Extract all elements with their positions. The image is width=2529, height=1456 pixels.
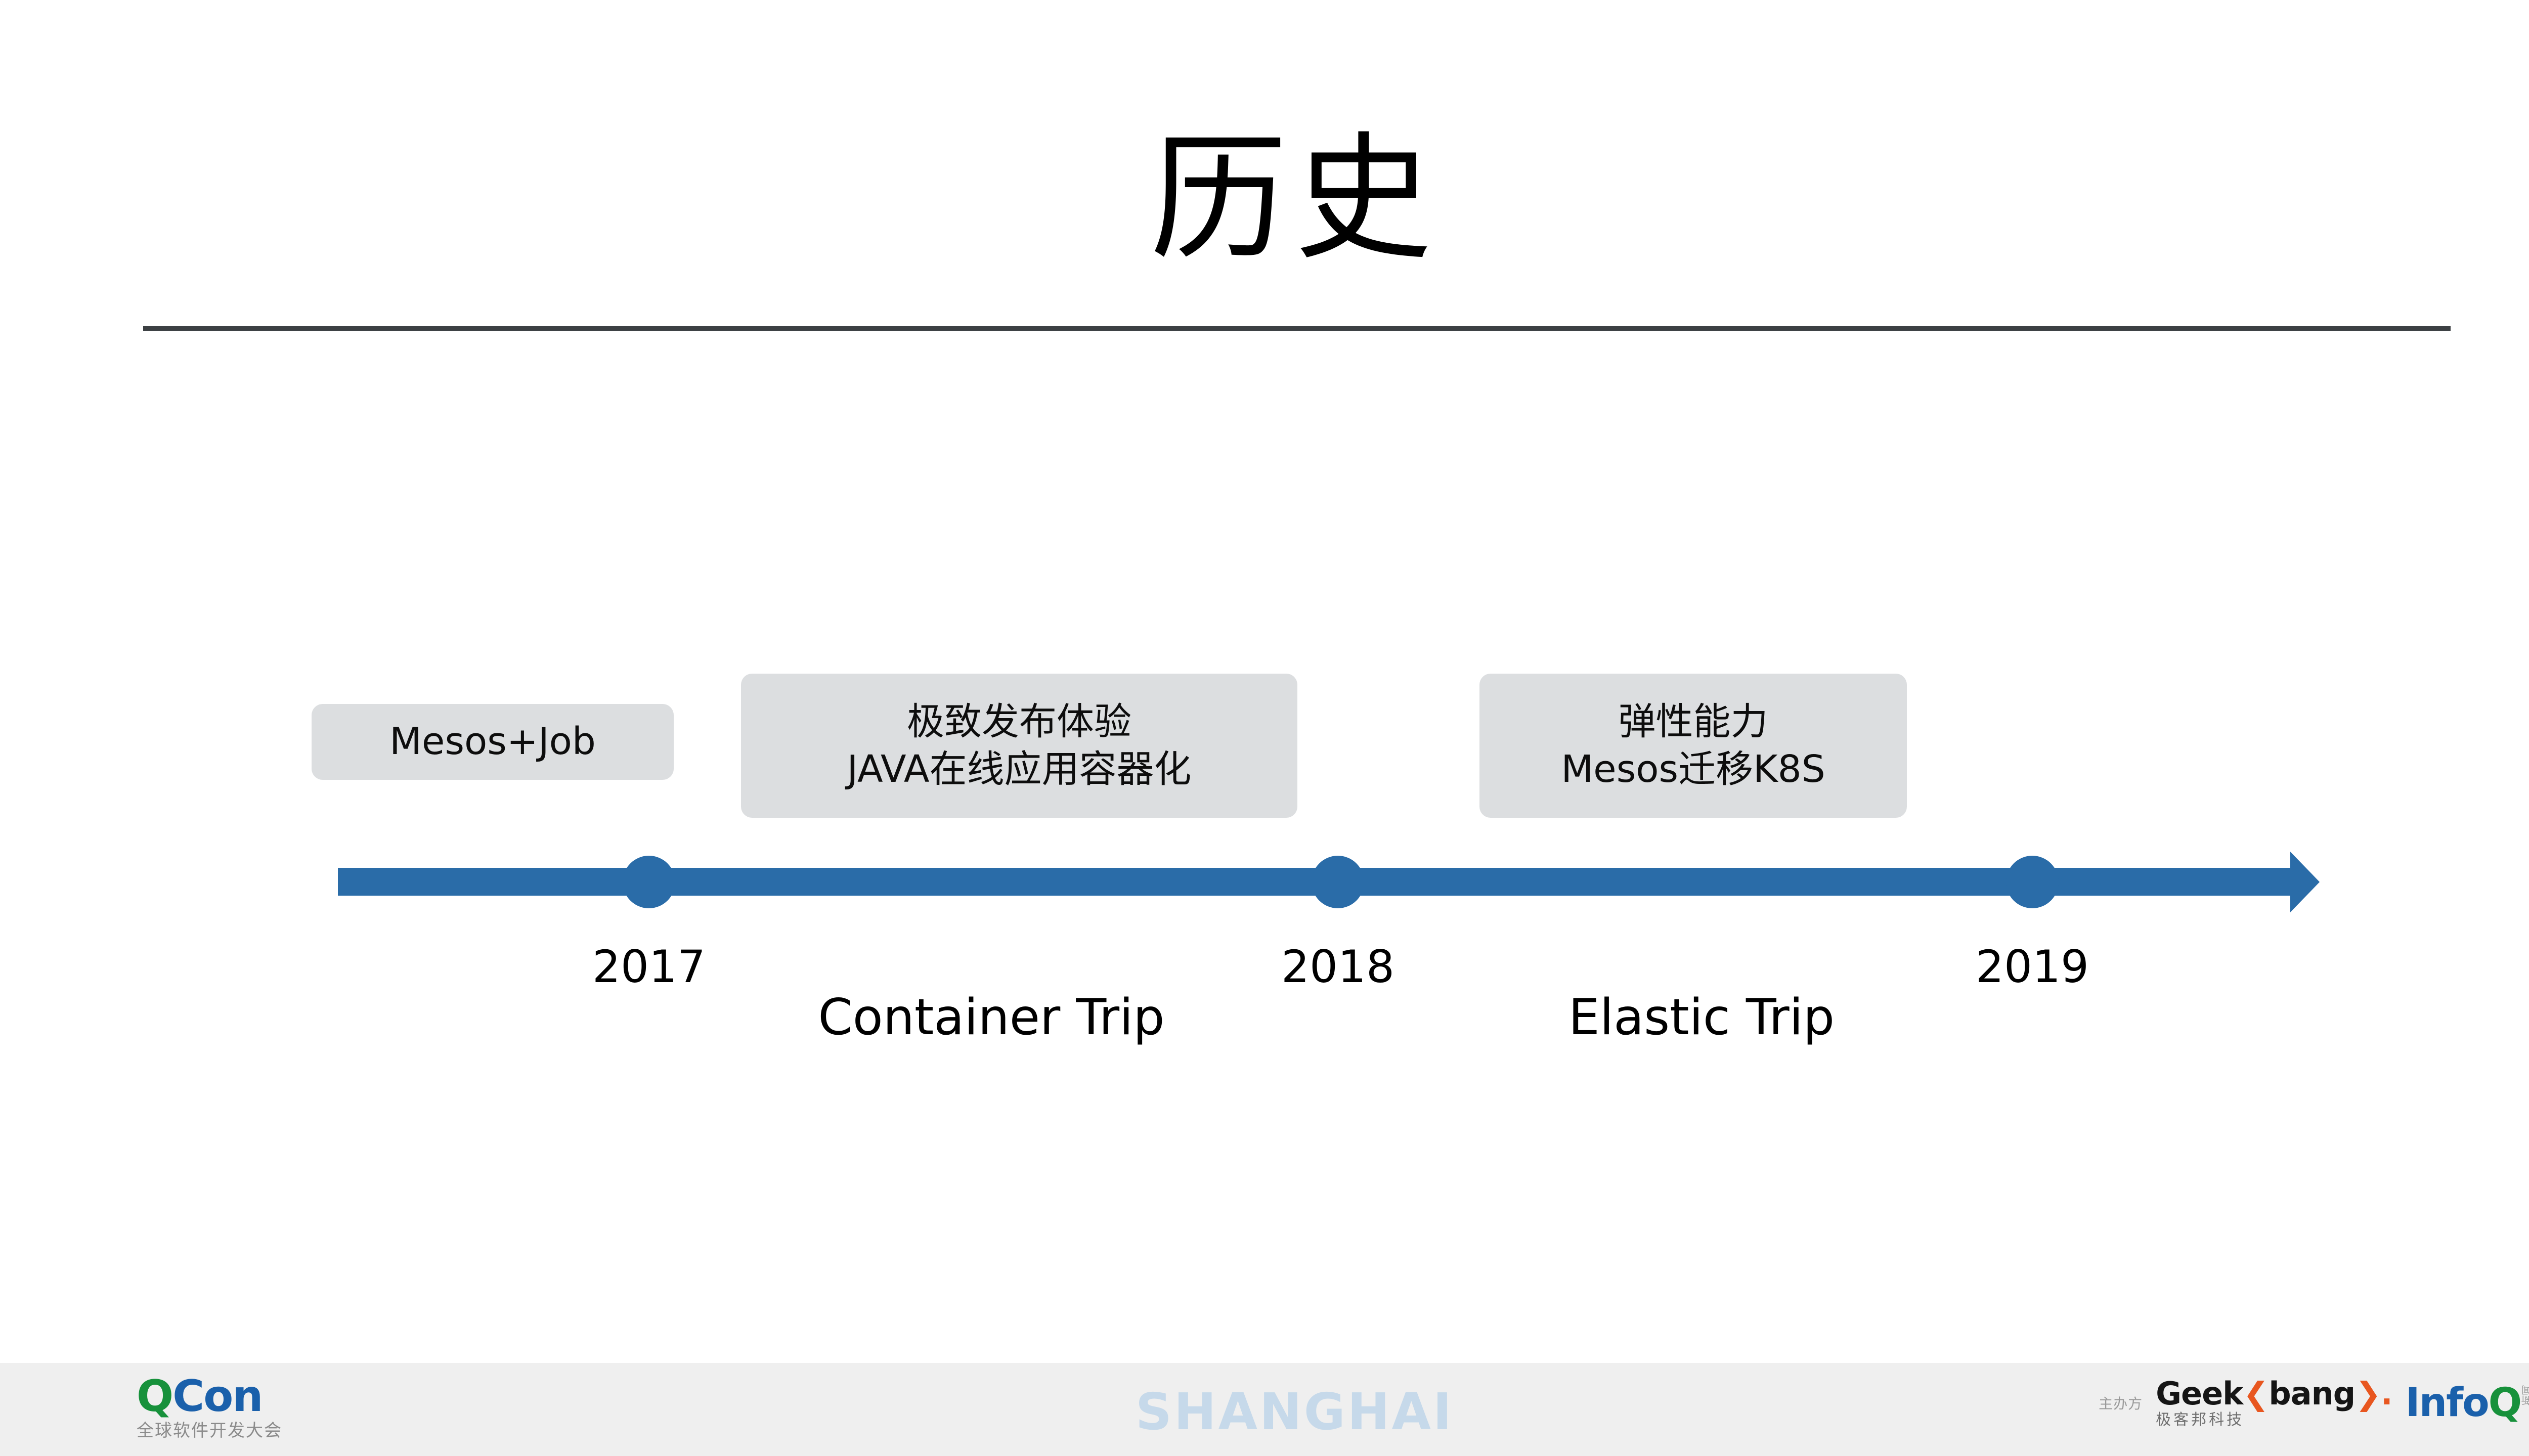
milestone-line: Mesos迁移K8S [1561,746,1825,793]
milestone-line: JAVA在线应用容器化 [847,746,1192,793]
timeline-node-2019[interactable] [2006,856,2059,908]
infoq-letter-q: Q [2489,1380,2521,1426]
milestone-box: Mesos+Job [312,704,674,780]
timeline-arrow-icon [2290,852,2320,912]
timeline-phase-label: Elastic Trip [1568,989,1835,1046]
timeline-year-label: 2017 [592,941,706,993]
milestone-line: 极致发布体验 [907,698,1131,745]
timeline-node-2018[interactable] [1312,856,1364,908]
milestone-line: 弹性能力 [1619,698,1768,745]
geekbang-part1: Geek [2156,1375,2243,1412]
geekbang-chevron-right-icon: ❯ [2355,1375,2381,1412]
timeline-year-label: 2018 [1281,941,1394,993]
timeline-year-label: 2019 [1976,941,2089,993]
geekbang-dot-icon: . [2381,1375,2392,1412]
milestone-line: Mesos+Job [389,718,596,765]
infoq-word-info: Info [2406,1380,2489,1426]
geekbang-wordmark: Geek❮bang❯. [2156,1378,2392,1409]
infoq-side-mark: 新闻 [2522,1385,2529,1405]
milestone-box: 弹性能力 Mesos迁移K8S [1479,674,1907,818]
geekbang-chevron-left-icon: ❮ [2243,1375,2269,1412]
host-label: 主办方 [2099,1393,2143,1413]
geekbang-subtitle: 极客邦科技 [2156,1413,2392,1428]
geekbang-part2: bang [2269,1375,2355,1412]
timeline-phase-label: Container Trip [818,989,1164,1046]
timeline-graphic: 2017 2018 2019 Container Trip Elastic Tr… [0,0,2529,1456]
infoq-logo: InfoQ新闻 [2406,1383,2521,1423]
geekbang-logo: Geek❮bang❯. 极客邦科技 [2156,1378,2392,1428]
footer-sponsors: 主办方 Geek❮bang❯. 极客邦科技 InfoQ新闻 [2099,1378,2521,1428]
timeline-node-2017[interactable] [623,856,675,908]
milestone-box: 极致发布体验 JAVA在线应用容器化 [741,674,1297,818]
